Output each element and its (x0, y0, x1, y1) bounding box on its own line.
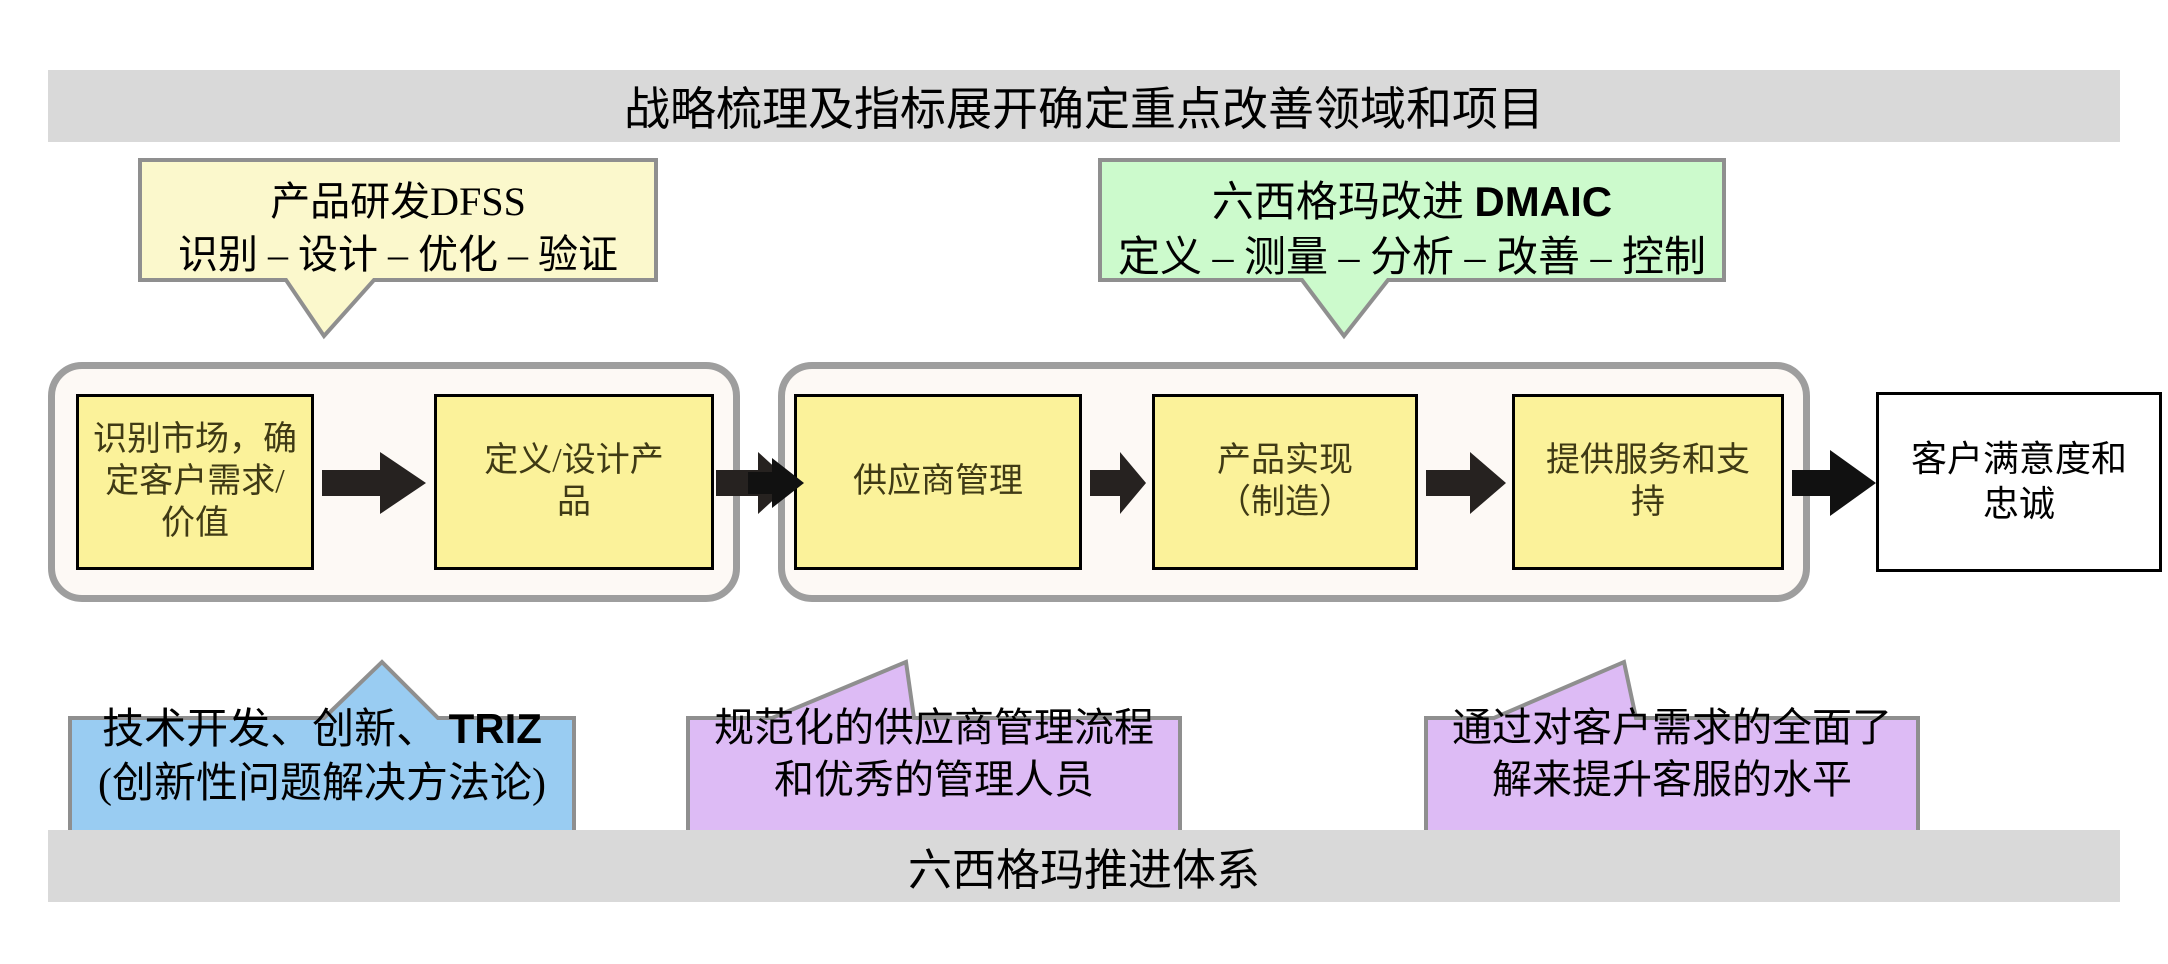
outcome-customer-satisfaction[interactable]: 客户满意度和 忠诚 (1876, 392, 2162, 572)
process-step-supplier-management[interactable]: 供应商管理 (794, 394, 1082, 570)
outcome-line2: 忠诚 (1911, 482, 2127, 527)
footer-banner-text: 六西格玛推进体系 (908, 834, 1260, 898)
callout-supplier-shape (688, 662, 1180, 838)
step1-line1: 识别市场，确 (93, 419, 297, 461)
outcome-customer-satisfaction-label: 客户满意度和 忠诚 (1911, 437, 2127, 527)
process-step-service-support-label: 提供服务和支 持 (1546, 440, 1750, 524)
step2-line1: 定义/设计产 (484, 440, 663, 482)
callout-service-shape (1426, 662, 1918, 838)
callout-triz-shape (70, 662, 574, 838)
arrow-right-icon-1 (322, 452, 426, 514)
step4-line2: （制造） (1217, 482, 1353, 524)
footer-banner: 六西格玛推进体系 (48, 830, 2120, 902)
callout-dfss-shape (140, 160, 656, 336)
callout-triz: 技术开发、创新、 TRIZ (创新性问题解决方法论) (68, 660, 576, 840)
arrow-right-icon-5 (1792, 450, 1876, 516)
arrow-right-icon-2b (748, 458, 804, 508)
arrow-right-icon-4 (1426, 452, 1506, 514)
callout-supplier: 规范化的供应商管理流程 和优秀的管理人员 (686, 660, 1182, 840)
diagram-canvas: 战略梳理及指标展开确定重点改善领域和项目 产品研发DFSS 识别 – 设计 – … (0, 0, 2168, 964)
callout-dmaic-shape (1100, 160, 1724, 336)
step3-line1: 供应商管理 (853, 461, 1023, 503)
title-banner-text: 战略梳理及指标展开确定重点改善领域和项目 (624, 73, 1544, 139)
process-step-identify-market[interactable]: 识别市场，确 定客户需求/ 价值 (76, 394, 314, 570)
step1-line3: 价值 (93, 503, 297, 545)
process-step-define-design-product[interactable]: 定义/设计产 品 (434, 394, 714, 570)
process-step-supplier-management-label: 供应商管理 (853, 461, 1023, 503)
process-step-service-support[interactable]: 提供服务和支 持 (1512, 394, 1784, 570)
step4-line1: 产品实现 (1217, 440, 1353, 482)
process-step-product-realization-label: 产品实现 （制造） (1217, 440, 1353, 524)
process-step-identify-market-label: 识别市场，确 定客户需求/ 价值 (93, 419, 297, 545)
callout-dfss: 产品研发DFSS 识别 – 设计 – 优化 – 验证 (138, 158, 658, 338)
step5-line1: 提供服务和支 (1546, 440, 1750, 482)
step1-line2: 定客户需求/ (93, 461, 297, 503)
process-step-product-realization[interactable]: 产品实现 （制造） (1152, 394, 1418, 570)
arrow-right-icon-3 (1090, 452, 1146, 514)
callout-service: 通过对客户需求的全面了 解来提升客服的水平 (1424, 660, 1920, 840)
callout-dmaic: 六西格玛改进 DMAIC 定义 – 测量 – 分析 – 改善 – 控制 (1098, 158, 1726, 338)
process-step-define-design-product-label: 定义/设计产 品 (484, 440, 663, 524)
step5-line2: 持 (1546, 482, 1750, 524)
title-banner: 战略梳理及指标展开确定重点改善领域和项目 (48, 70, 2120, 142)
outcome-line1: 客户满意度和 (1911, 437, 2127, 482)
step2-line2: 品 (484, 482, 663, 524)
